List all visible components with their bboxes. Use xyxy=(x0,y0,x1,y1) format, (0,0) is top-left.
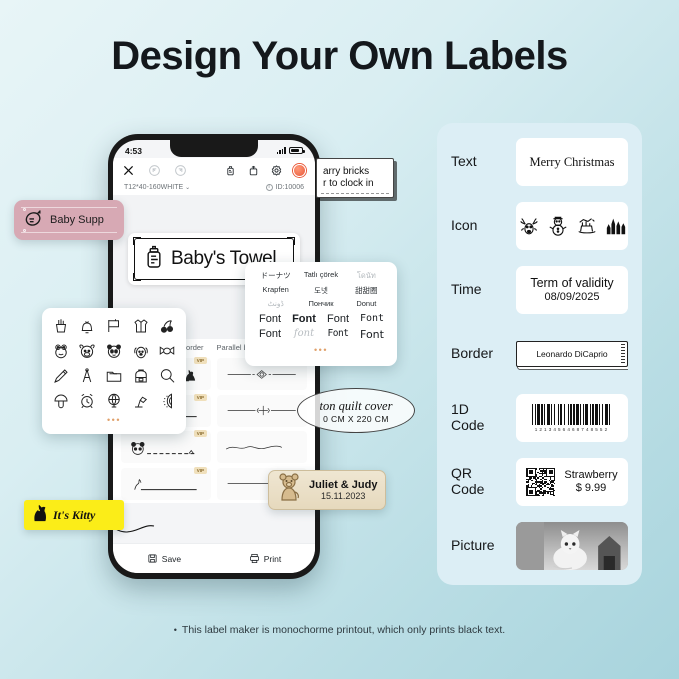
print-icon xyxy=(249,553,260,564)
barcode-image xyxy=(532,404,612,425)
bell-icon[interactable] xyxy=(76,316,100,336)
cat-photo xyxy=(516,522,628,570)
save-icon xyxy=(147,553,158,564)
cherry-icon[interactable] xyxy=(155,316,179,336)
feature-row-icon: Icon xyxy=(451,202,628,250)
qr-code-image xyxy=(526,468,555,497)
backpack-icon[interactable] xyxy=(129,366,153,386)
feature-row-text: Text Merry Christmas xyxy=(451,138,628,186)
barcode-number: 1213456468748552 xyxy=(535,427,609,432)
feature-card-border: Leonardo DiCaprio xyxy=(516,330,628,378)
castle-icon xyxy=(605,215,627,237)
font-sample[interactable]: Font xyxy=(322,328,354,341)
sticker-quilt-cover: ton quilt cover 0 CM X 220 CM xyxy=(297,388,415,433)
chevron-down-icon: ⌄ xyxy=(185,185,190,191)
font-sample[interactable]: Font xyxy=(356,328,388,341)
feature-row-1d-code: 1DCode 1213456468748552 xyxy=(451,394,628,442)
feature-card-picture xyxy=(516,522,628,570)
border-template-wave[interactable] xyxy=(217,431,307,463)
qr-line1: Strawberry xyxy=(564,469,617,482)
font-lang-item[interactable]: 도넷 xyxy=(299,285,342,296)
undo-icon[interactable] xyxy=(148,164,161,177)
feature-row-time: Time Term of validity 08/09/2025 xyxy=(451,266,628,314)
sticker-juliet-judy: Juliet & Judy 15.11.2023 xyxy=(268,470,386,510)
shape-icon[interactable] xyxy=(247,164,260,177)
feature-card-text: Merry Christmas xyxy=(516,138,628,186)
border-template-panda[interactable]: VIP xyxy=(121,431,211,463)
sticker-quilt-line2: 0 CM X 220 CM xyxy=(297,414,415,424)
frog-face-icon[interactable] xyxy=(49,341,73,361)
pencil-icon[interactable] xyxy=(49,366,73,386)
baby-bottle-icon xyxy=(144,245,164,274)
magnifier-icon[interactable] xyxy=(155,366,179,386)
print-label: Print xyxy=(264,554,281,564)
phone-bottom-bar: Save Print xyxy=(113,543,315,573)
border-sample: Leonardo DiCaprio xyxy=(516,341,628,367)
mushroom-icon[interactable] xyxy=(49,391,73,411)
sticker-its-kitty: It's Kitty xyxy=(24,500,124,530)
candy-icon[interactable] xyxy=(155,341,179,361)
avatar[interactable] xyxy=(293,164,306,177)
footer-bullet: • xyxy=(174,625,177,635)
feature-row-border: Border Leonardo DiCaprio xyxy=(451,330,628,378)
feature-label-qr-code: QRCode xyxy=(451,466,507,497)
font-lang-item[interactable]: 甜甜圈 xyxy=(345,285,388,296)
border-sample-text: Leonardo DiCaprio xyxy=(536,349,607,359)
sticker-juliet-line1: Juliet & Judy xyxy=(309,479,377,491)
feature-label-picture: Picture xyxy=(451,538,507,554)
feature-row-picture: Picture xyxy=(451,522,628,570)
footer-note-text: This label maker is monochorme printout,… xyxy=(182,624,505,636)
font-sample[interactable]: Font xyxy=(356,313,388,325)
flag-icon[interactable] xyxy=(102,316,126,336)
vip-badge: VIP xyxy=(194,467,207,474)
feature-card-barcode: 1213456468748552 xyxy=(516,394,628,442)
alarm-clock-icon[interactable] xyxy=(76,391,100,411)
info-icon: i xyxy=(266,184,273,191)
icon-grid xyxy=(49,316,179,411)
time-line2: 08/09/2025 xyxy=(530,291,613,304)
feature-panel: Text Merry Christmas Icon xyxy=(437,123,642,585)
feature-label-icon: Icon xyxy=(451,218,507,234)
cow-face-icon[interactable] xyxy=(76,341,100,361)
font-picker-panel[interactable]: ドーナツ Tatlı çörek โดนัท Krapfen 도넷 甜甜圈 ڈو… xyxy=(245,262,397,366)
icon-picker-panel[interactable]: ••• xyxy=(42,308,186,434)
save-label: Save xyxy=(162,554,181,564)
sticker-baby-supplies: Baby Supp xyxy=(14,200,124,240)
font-lang-item[interactable]: ڈونٹ xyxy=(254,299,297,308)
reindeer-icon xyxy=(518,215,540,237)
font-lang-item[interactable]: ドーナツ xyxy=(254,270,297,282)
teddy-bear-icon xyxy=(275,472,305,509)
protractor-icon[interactable] xyxy=(155,391,179,411)
font-sample[interactable]: font xyxy=(288,328,320,341)
icon-panel-more-dots[interactable]: ••• xyxy=(49,415,179,425)
text-sample-value: Merry Christmas xyxy=(529,155,614,170)
signal-icon xyxy=(277,147,286,154)
feature-label-1d-code: 1DCode xyxy=(451,402,507,433)
qr-line2: $ 9.99 xyxy=(564,482,617,495)
close-icon[interactable] xyxy=(122,164,135,177)
vip-badge: VIP xyxy=(194,394,207,401)
vip-badge: VIP xyxy=(194,430,207,437)
dog-face-icon[interactable] xyxy=(129,341,153,361)
font-sample[interactable]: Font xyxy=(322,313,354,325)
print-button[interactable]: Print xyxy=(249,553,281,564)
font-lang-item[interactable]: Пончик xyxy=(299,299,342,308)
font-lang-item[interactable]: Donut xyxy=(345,299,388,308)
save-button[interactable]: Save xyxy=(147,553,181,564)
shirt-icon[interactable] xyxy=(129,316,153,336)
page-title: Design Your Own Labels xyxy=(0,34,679,79)
sticker-quilt-line1: ton quilt cover xyxy=(297,399,415,414)
folder-icon[interactable] xyxy=(102,366,126,386)
bottle-icon[interactable] xyxy=(224,164,237,177)
font-language-list: ドーナツ Tatlı çörek โดนัท Krapfen 도넷 甜甜圈 ڈو… xyxy=(254,270,388,308)
sticker-bricks-line2: r to clock in xyxy=(323,178,393,191)
sleigh-icon xyxy=(576,215,598,237)
panda-face-icon[interactable] xyxy=(102,341,126,361)
app-toolbar xyxy=(113,158,315,182)
spec-bar: T12*40-160WHITE⌄ i ID:10006 xyxy=(113,182,315,195)
pen-holder-icon[interactable] xyxy=(49,316,73,336)
sticker-baby-text: Baby Supp xyxy=(50,214,104,226)
feature-label-time: Time xyxy=(451,282,507,298)
font-sample[interactable]: Font xyxy=(288,313,320,325)
font-panel-more-dots[interactable]: ••• xyxy=(254,345,388,355)
font-lang-item[interactable]: Krapfen xyxy=(254,285,297,296)
font-sample[interactable]: Font xyxy=(254,313,286,325)
battery-icon xyxy=(289,147,303,154)
gear-icon[interactable] xyxy=(270,164,283,177)
feature-card-time: Term of validity 08/09/2025 xyxy=(516,266,628,314)
border-template-cross[interactable] xyxy=(217,395,307,427)
compass-icon[interactable] xyxy=(76,366,100,386)
label-model-selector[interactable]: T12*40-160WHITE⌄ xyxy=(124,184,190,191)
snowman-icon xyxy=(547,215,569,237)
font-sample[interactable]: Font xyxy=(254,328,286,341)
feature-card-qrcode: Strawberry $ 9.99 xyxy=(516,458,628,506)
globe-icon[interactable] xyxy=(102,391,126,411)
font-sample-list: Font Font Font Font Font font Font Font xyxy=(254,313,388,341)
sticker-carry-bricks: arry bricks r to clock in xyxy=(316,158,394,198)
sticker-kitty-text: It's Kitty xyxy=(53,508,95,523)
feature-card-icon xyxy=(516,202,628,250)
font-lang-item[interactable]: Tatlı çörek xyxy=(299,270,342,282)
vip-badge: VIP xyxy=(194,357,207,364)
cat-icon xyxy=(31,503,49,528)
phone-notch xyxy=(170,140,258,157)
redo-icon[interactable] xyxy=(174,164,187,177)
feature-label-border: Border xyxy=(451,346,507,362)
border-template-bird[interactable]: VIP xyxy=(121,468,211,500)
sticker-juliet-line2: 15.11.2023 xyxy=(321,491,365,501)
sticker-bricks-line1: arry bricks xyxy=(323,166,393,179)
feature-label-text: Text xyxy=(451,154,507,170)
footer-note: •This label maker is monochorme printout… xyxy=(0,624,679,636)
status-time: 4:53 xyxy=(125,146,142,156)
font-lang-item[interactable]: โดนัท xyxy=(345,270,388,282)
feature-row-qr-code: QRCode Strawberry $ 9.99 xyxy=(451,458,628,506)
desk-lamp-icon[interactable] xyxy=(129,391,153,411)
baby-bottle-icon xyxy=(23,207,45,234)
time-line1: Term of validity xyxy=(530,276,613,291)
label-id: i ID:10006 xyxy=(266,184,304,191)
